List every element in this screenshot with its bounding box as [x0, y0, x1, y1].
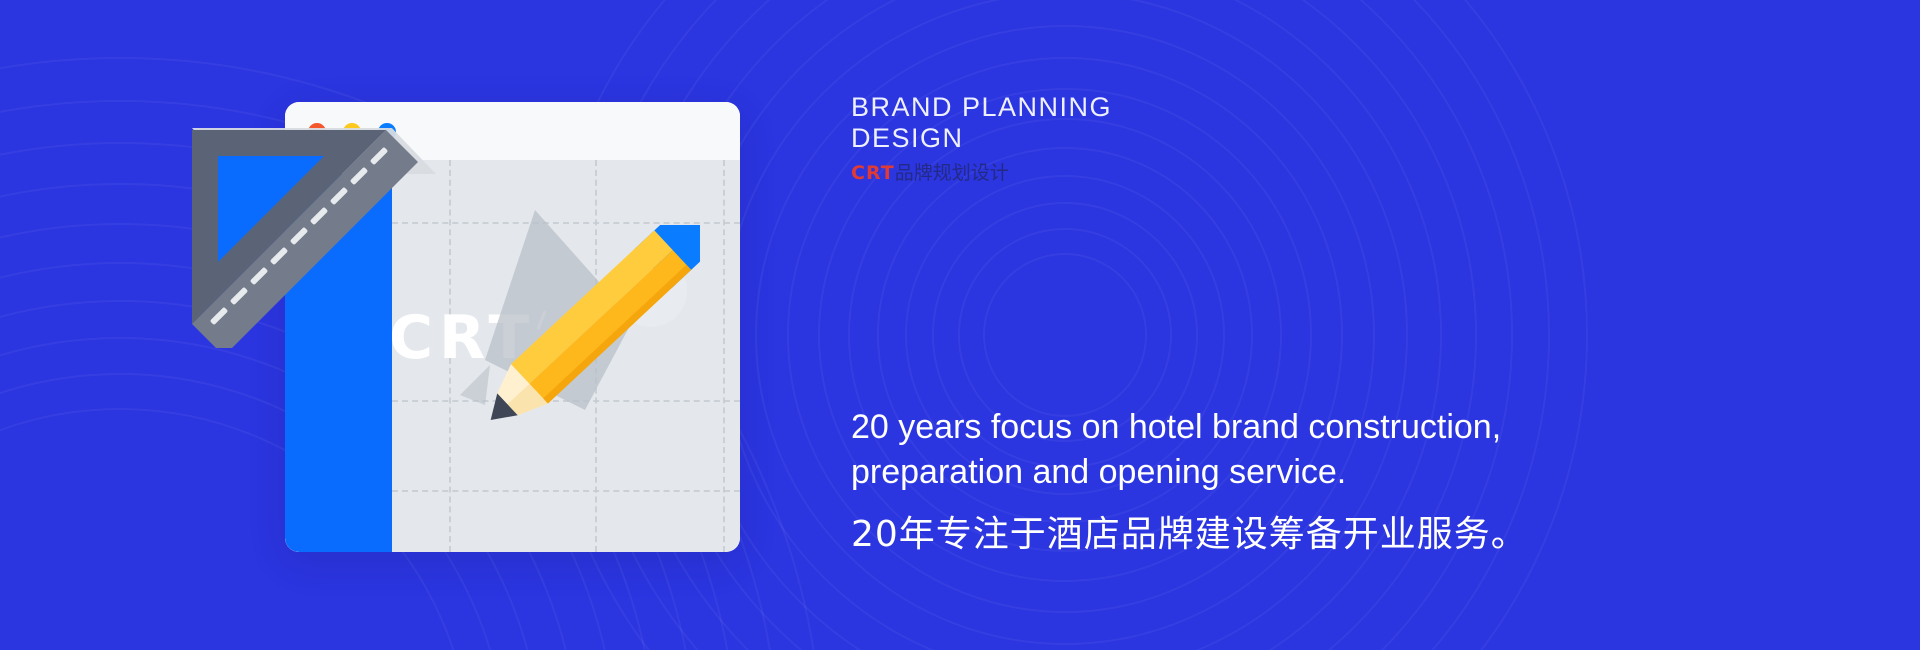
tagline-block: 20 years focus on hotel brand constructi… [851, 405, 1691, 558]
guide-line-vertical [595, 160, 597, 552]
window-titlebar [285, 102, 740, 160]
window-blue-panel [285, 160, 392, 552]
tagline-english-line-2: preparation and opening service. [851, 450, 1691, 495]
crt-wordmark: CRT [389, 308, 535, 368]
window-close-dot-icon[interactable] [308, 123, 326, 141]
browser-window-mockup: CRT [285, 102, 740, 552]
window-content-area: CRT [285, 160, 740, 552]
guide-line-horizontal [392, 490, 740, 492]
window-minimize-dot-icon[interactable] [343, 123, 361, 141]
brand-banner: CRT [0, 0, 1920, 650]
tagline-chinese: 20年专注于酒店品牌建设筹备开业服务。 [851, 512, 1691, 558]
tagline-english-line-1: 20 years focus on hotel brand constructi… [851, 405, 1691, 450]
guide-line-horizontal [392, 222, 740, 224]
subtitle-chinese-text: 品牌规划设计 [895, 162, 1009, 184]
headline-subtitle: CRT品牌规划设计 [851, 161, 1112, 185]
guide-line-vertical [723, 160, 725, 552]
guide-line-horizontal [392, 400, 740, 402]
window-maximize-dot-icon[interactable] [378, 123, 396, 141]
headline-line-1: BRAND PLANNING [851, 92, 1112, 123]
crt-tick-mark-icon [536, 310, 546, 330]
headline-block: BRAND PLANNING DESIGN CRT品牌规划设计 [851, 92, 1112, 185]
headline-line-2: DESIGN [851, 123, 1112, 154]
subtitle-brand-text: CRT [851, 162, 895, 184]
eraser-halo-circle [615, 255, 687, 327]
